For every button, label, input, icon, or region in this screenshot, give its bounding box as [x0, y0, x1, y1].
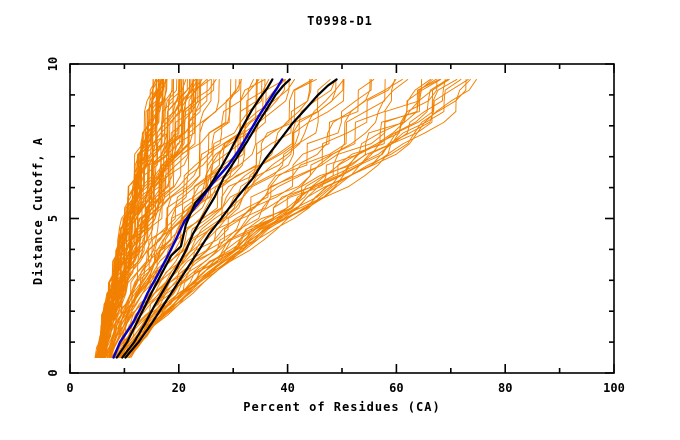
- x-tick-label: 60: [389, 381, 403, 395]
- line-chart: 0204060801000510: [0, 0, 680, 440]
- y-tick-label: 10: [46, 57, 60, 71]
- y-tick-label: 5: [46, 215, 60, 222]
- x-tick-label: 40: [280, 381, 294, 395]
- y-tick-label: 0: [46, 369, 60, 376]
- x-tick-label: 80: [498, 381, 512, 395]
- curve-group: [95, 79, 476, 357]
- x-tick-label: 20: [172, 381, 186, 395]
- chart-canvas: T0998-D1 Percent of Residues (CA) Distan…: [0, 0, 680, 440]
- x-tick-label: 100: [603, 381, 625, 395]
- x-tick-label: 0: [66, 381, 73, 395]
